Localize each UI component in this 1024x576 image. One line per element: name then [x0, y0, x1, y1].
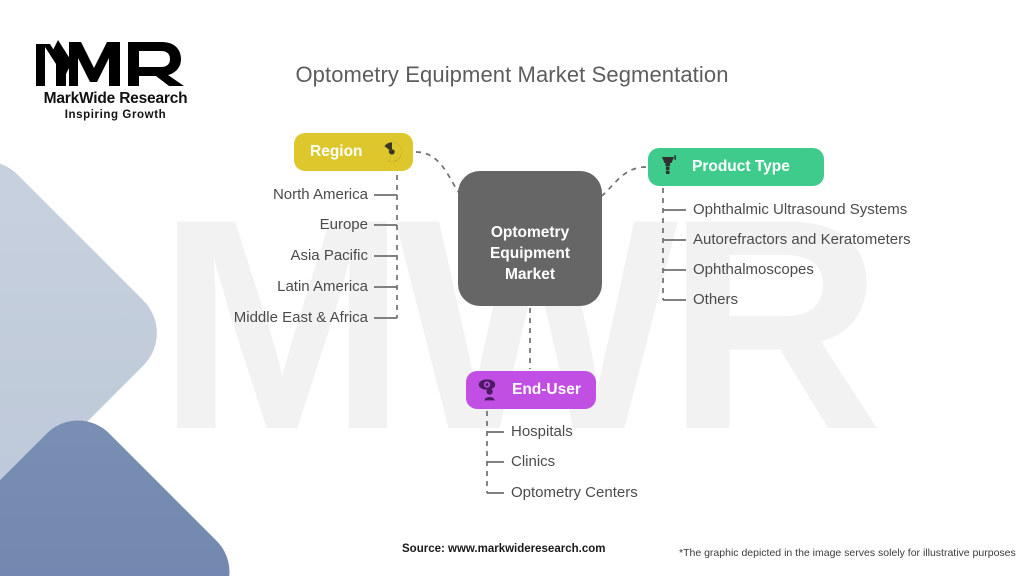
leaf-region-1: Europe — [88, 216, 368, 233]
leaf-product-type-2: Ophthalmoscopes — [693, 261, 814, 278]
disclaimer-label: *The graphic depicted in the image serve… — [679, 547, 1016, 559]
center-node-line3: Market — [505, 266, 555, 283]
leaf-product-type-3: Others — [693, 291, 738, 308]
leaf-end-user-2: Optometry Centers — [511, 484, 638, 501]
leaf-product-type-1: Autorefractors and Keratometers — [693, 231, 911, 248]
branch-badge-region[interactable]: Region — [294, 133, 413, 171]
leaf-end-user-0: Hospitals — [511, 423, 573, 440]
branch-badge-end-user[interactable]: End-User — [466, 371, 596, 409]
page-title: Optometry Equipment Market Segmentation — [0, 62, 1024, 88]
logo-company-name: MarkWide Research — [28, 90, 203, 108]
leaf-region-4: Middle East & Africa — [88, 309, 368, 326]
leaf-end-user-1: Clinics — [511, 453, 555, 470]
source-label: Source: www.markwideresearch.com — [402, 543, 605, 555]
infographic-canvas: MWR MarkWide Research Inspiring Growth O… — [0, 0, 1024, 576]
logo-tagline: Inspiring Growth — [28, 109, 203, 121]
leaf-product-type-0: Ophthalmic Ultrasound Systems — [693, 201, 907, 218]
leaf-region-2: Asia Pacific — [88, 247, 368, 264]
center-node: Optometry Equipment Market — [458, 171, 602, 306]
branch-label-region: Region — [310, 143, 363, 161]
center-node-line1: Optometry — [491, 224, 569, 241]
leaf-region-0: North America — [88, 186, 368, 203]
branch-badge-product-type[interactable]: Product Type — [648, 148, 824, 186]
globe-icon — [381, 141, 403, 163]
eye-person-icon — [476, 377, 502, 403]
leaf-region-3: Latin America — [88, 278, 368, 295]
ophthalmoscope-icon — [658, 154, 682, 180]
center-node-line2: Equipment — [490, 245, 570, 262]
branch-label-end-user: End-User — [512, 381, 581, 399]
branch-label-product-type: Product Type — [692, 158, 790, 176]
